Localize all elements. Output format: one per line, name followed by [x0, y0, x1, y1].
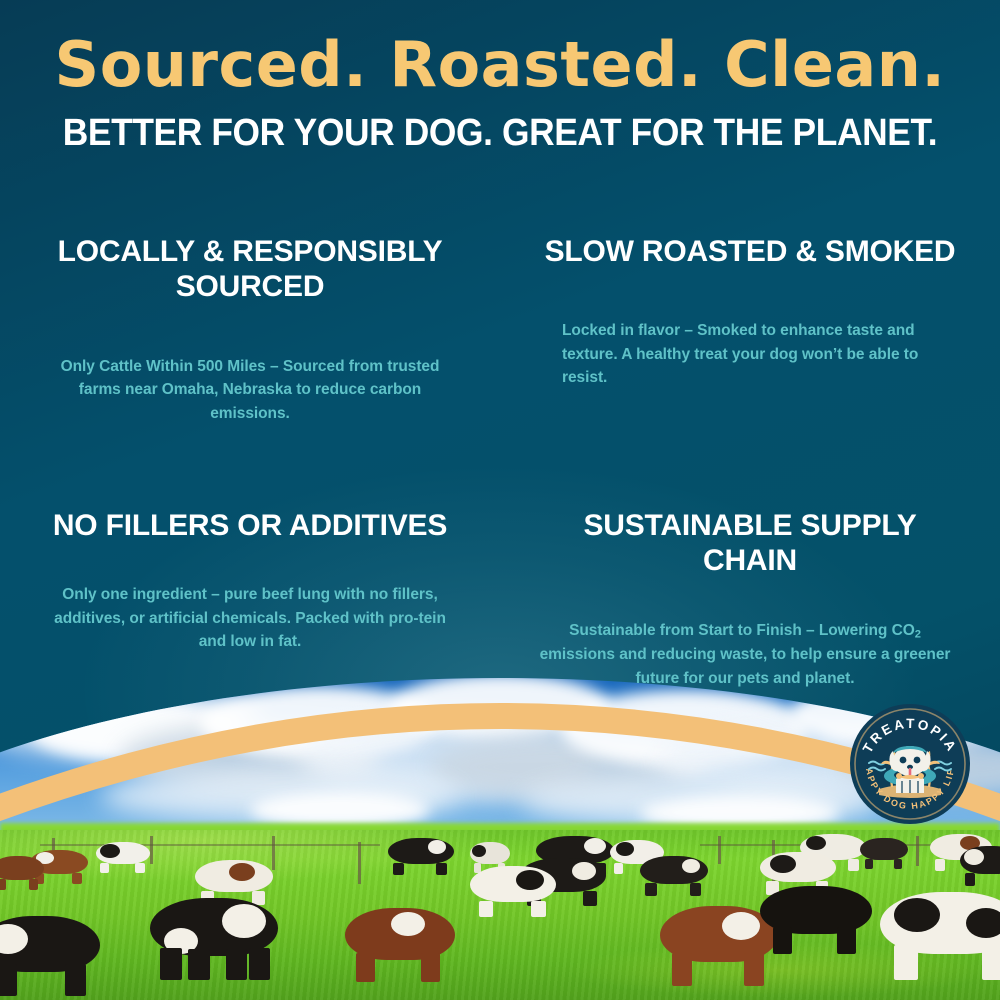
cow: [880, 892, 1000, 954]
cow: [0, 856, 44, 880]
logo-badge[interactable]: TREATOPIA HAPPY DOG HAPPY LIFE: [849, 703, 971, 825]
cow: [195, 860, 273, 892]
cow: [760, 886, 872, 934]
fence-post: [916, 836, 919, 866]
fence-post: [150, 836, 153, 864]
feature-heading: NO FILLERS OR ADDITIVES: [38, 462, 462, 543]
feature-body: Sustainable from Start to Finish – Lower…: [538, 579, 962, 691]
cow: [470, 866, 556, 902]
page-title: Sourced. Roasted. Clean.: [0, 0, 1000, 96]
header: Sourced. Roasted. Clean. BETTER FOR YOUR…: [0, 0, 1000, 152]
feature-card-slow-roasted: SLOW ROASTED & SMOKED Locked in flavor –…: [500, 222, 1000, 462]
feature-card-sustainable-supply-chain: SUSTAINABLE SUPPLY CHAIN Sustainable fro…: [500, 462, 1000, 662]
feature-heading: SUSTAINABLE SUPPLY CHAIN: [538, 462, 962, 579]
fence-post: [272, 836, 275, 870]
cow: [960, 846, 1000, 874]
feature-body: Only Cattle Within 500 Miles – Sourced f…: [38, 305, 462, 426]
feature-body: Only one ingredient – pure beef lung wit…: [38, 543, 462, 654]
cow: [150, 898, 278, 956]
fence-wire: [40, 844, 380, 846]
feature-card-no-fillers: NO FILLERS OR ADDITIVES Only one ingredi…: [0, 462, 500, 662]
feature-heading: SLOW ROASTED & SMOKED: [538, 222, 962, 269]
cow: [640, 856, 708, 884]
feature-body-part-2: emissions and reducing waste, to help en…: [540, 646, 951, 687]
feature-heading: LOCALLY & RESPONSIBLY SOURCED: [38, 222, 462, 305]
cow: [760, 852, 836, 882]
fence-post: [718, 836, 721, 864]
cow: [470, 842, 510, 864]
co2-subscript: 2: [915, 628, 921, 640]
marketing-infographic: Sourced. Roasted. Clean. BETTER FOR YOUR…: [0, 0, 1000, 1000]
feature-grid: LOCALLY & RESPONSIBLY SOURCED Only Cattl…: [0, 222, 1000, 662]
fence-post: [358, 842, 361, 884]
cow: [388, 838, 454, 864]
cow: [860, 838, 908, 860]
cow: [0, 916, 100, 972]
cow: [345, 908, 455, 960]
cow: [96, 842, 150, 864]
feature-body-part-1: Sustainable from Start to Finish – Lower…: [569, 622, 915, 639]
feature-card-locally-sourced: LOCALLY & RESPONSIBLY SOURCED Only Cattl…: [0, 222, 500, 462]
feature-body: Locked in flavor – Smoked to enhance tas…: [538, 269, 962, 390]
page-subtitle: BETTER FOR YOUR DOG. GREAT FOR THE PLANE…: [35, 96, 965, 152]
